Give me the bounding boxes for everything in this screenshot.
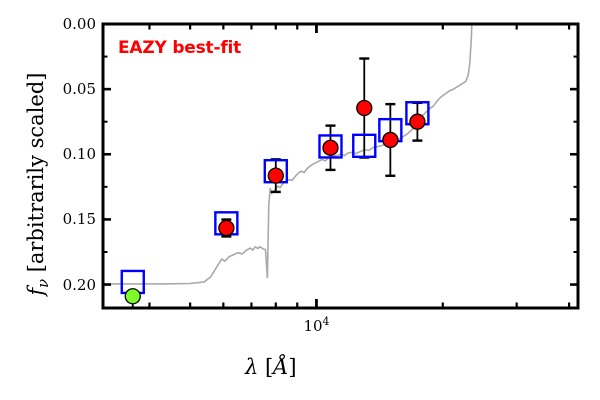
observed-photometry-point-2[interactable] <box>268 168 283 183</box>
y-tick-label-3: 0.05 <box>38 80 96 98</box>
x-axis-label: λ [Å] <box>245 355 297 379</box>
observed-photometry-point-0[interactable] <box>125 289 140 304</box>
y-tick-label-4: 0.00 <box>38 15 96 33</box>
observed-photometry-point-3[interactable] <box>323 140 338 155</box>
observed-photometry-point-4[interactable] <box>357 101 372 116</box>
observed-photometry-point-5[interactable] <box>383 132 398 147</box>
y-tick-label-2: 0.10 <box>38 145 96 163</box>
figure-background <box>0 0 600 400</box>
observed-photometry-point-1[interactable] <box>219 221 234 236</box>
y-tick-label-1: 0.15 <box>38 210 96 228</box>
y-tick-label-0: 0.20 <box>38 276 96 294</box>
sed-plot-figure <box>0 0 600 400</box>
x-tick-label-major: 104 <box>276 315 356 335</box>
observed-photometry-point-6[interactable] <box>410 114 425 129</box>
eazy-best-fit-annotation: EAZY best-fit <box>118 38 241 58</box>
